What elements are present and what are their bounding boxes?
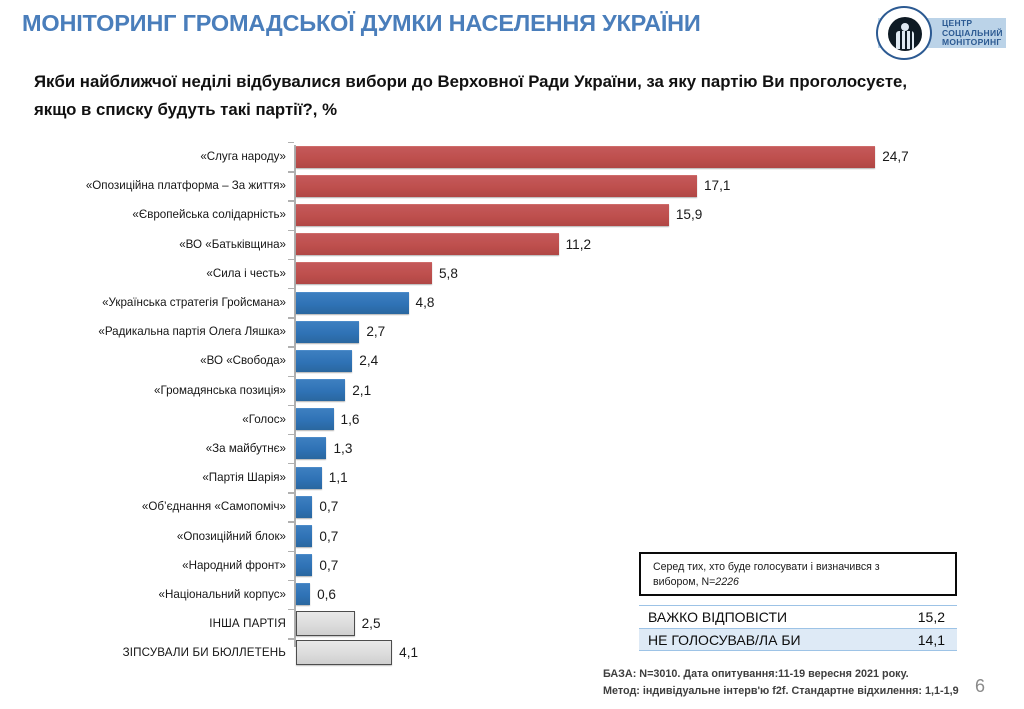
axis-tick (288, 346, 294, 347)
chart-bar-group: 4,8 (296, 288, 434, 317)
chart-bar-group: 1,3 (296, 434, 352, 463)
table-row: НЕ ГОЛОСУВАВ/ЛА БИ 14,1 (639, 628, 957, 651)
axis-tick (288, 609, 294, 610)
axis-tick (288, 259, 294, 260)
chart-category-label: ЗІПСУВАЛИ БИ БЮЛЛЕТЕНЬ (16, 646, 286, 659)
chart-value-label: 17,1 (704, 178, 730, 193)
axis-tick (288, 434, 294, 435)
logo-head-shape (901, 23, 909, 31)
axis-tick (288, 171, 294, 172)
chart-value-label: 4,1 (399, 645, 418, 660)
chart-bar-row: «Голос»1,6 (0, 405, 1024, 434)
result-value: 14,1 (918, 632, 945, 648)
chart-category-label: «Європейська солідарність» (16, 208, 286, 221)
chart-bar[interactable] (296, 262, 432, 284)
chart-bar-group: 2,4 (296, 346, 378, 375)
chart-bar[interactable] (296, 554, 312, 576)
chart-value-label: 2,1 (352, 383, 371, 398)
chart-category-label: «Голос» (16, 413, 286, 426)
sample-note-box: Серед тих, хто буде голосувати і визначи… (639, 552, 957, 596)
chart-bar-group: 17,1 (296, 171, 730, 200)
chart-category-label: «Громадянська позиція» (16, 384, 286, 397)
chart-bar-group: 24,7 (296, 142, 909, 171)
chart-bar[interactable] (296, 408, 334, 430)
footer-line-2: Метод: індивідуальне інтерв'ю f2f. Станд… (603, 683, 959, 700)
chart-value-label: 2,5 (362, 616, 381, 631)
chart-bar[interactable] (296, 437, 326, 459)
chart-bar-group: 5,8 (296, 259, 458, 288)
organization-logo: ЦЕНТР СОЦІАЛЬНИЙ МОНІТОРИНГ (876, 6, 1016, 60)
chart-bar-row: «Європейська солідарність»15,9 (0, 200, 1024, 229)
chart-value-label: 1,1 (329, 470, 348, 485)
chart-category-label: «Партія Шарія» (16, 471, 286, 484)
axis-tick (288, 230, 294, 231)
logo-text: ЦЕНТР СОЦІАЛЬНИЙ МОНІТОРИНГ (942, 19, 1003, 48)
axis-tick (288, 463, 294, 464)
chart-category-label: «Сила і честь» (16, 267, 286, 280)
page-number: 6 (975, 676, 985, 697)
chart-bar-group: 1,1 (296, 463, 348, 492)
chart-bar-row: «Радикальна партія Олега Ляшка»2,7 (0, 317, 1024, 346)
logo-circle-icon (876, 6, 932, 60)
chart-bar[interactable] (296, 640, 392, 665)
chart-category-label: «Українська стратегія Гройсмана» (16, 296, 286, 309)
sample-note-text: Серед тих, хто буде голосувати і визначи… (653, 560, 945, 589)
chart-value-label: 0,7 (319, 529, 338, 544)
chart-category-label: «ВО «Батьківщина» (16, 238, 286, 251)
chart-bar[interactable] (296, 204, 669, 226)
chart-bar[interactable] (296, 379, 345, 401)
chart-bar-group: 4,1 (296, 638, 418, 667)
chart-bar[interactable] (296, 583, 310, 605)
chart-value-label: 0,7 (319, 499, 338, 514)
axis-tick (288, 551, 294, 552)
chart-value-label: 2,7 (366, 324, 385, 339)
chart-bar[interactable] (296, 175, 697, 197)
chart-bar[interactable] (296, 350, 352, 372)
chart-category-label: ІНША ПАРТІЯ (16, 617, 286, 630)
chart-bar-group: 2,1 (296, 376, 371, 405)
chart-bar-row: «Опозиційний блок»0,7 (0, 521, 1024, 550)
sample-note-line-2-prefix: вибором, N= (653, 576, 715, 588)
logo-stripe-3 (910, 31, 912, 49)
chart-category-label: «Радикальна партія Олега Ляшка» (16, 325, 286, 338)
chart-value-label: 2,4 (359, 353, 378, 368)
axis-tick (288, 405, 294, 406)
chart-bar[interactable] (296, 321, 359, 343)
chart-bar-group: 0,7 (296, 551, 338, 580)
chart-value-label: 5,8 (439, 266, 458, 281)
chart-bar[interactable] (296, 292, 409, 314)
chart-bar-row: «Українська стратегія Гройсмана»4,8 (0, 288, 1024, 317)
chart-category-label: «Національний корпус» (16, 588, 286, 601)
axis-tick (288, 492, 294, 493)
chart-value-label: 15,9 (676, 207, 702, 222)
chart-bar-row: «Партія Шарія»1,1 (0, 463, 1024, 492)
chart-bar-group: 0,7 (296, 521, 338, 550)
chart-value-label: 0,6 (317, 587, 336, 602)
chart-category-label: «За майбутнє» (16, 442, 286, 455)
page-title: МОНІТОРИНГ ГРОМАДСЬКОЇ ДУМКИ НАСЕЛЕННЯ У… (22, 10, 701, 37)
logo-text-line-3: МОНІТОРИНГ (942, 38, 1003, 48)
chart-category-label: «Народний фронт» (16, 559, 286, 572)
slide-root: МОНІТОРИНГ ГРОМАДСЬКОЇ ДУМКИ НАСЕЛЕННЯ У… (0, 0, 1024, 709)
chart-bar[interactable] (296, 611, 355, 636)
chart-bar-row: «Громадянська позиція»2,1 (0, 376, 1024, 405)
result-label: ВАЖКО ВІДПОВІСТИ (648, 609, 787, 625)
sample-note-line-1: Серед тих, хто буде голосувати і визначи… (653, 561, 880, 573)
chart-bar-row: «ВО «Свобода»2,4 (0, 346, 1024, 375)
chart-value-label: 11,2 (566, 237, 591, 252)
chart-category-label: «Слуга народу» (16, 150, 286, 163)
chart-value-label: 1,6 (341, 412, 360, 427)
table-row: ВАЖКО ВІДПОВІСТИ 15,2 (639, 605, 957, 628)
survey-question: Якби найближчої неділі відбувалися вибор… (34, 68, 944, 124)
chart-bar-group: 0,6 (296, 580, 336, 609)
chart-bar-row: «Опозиційна платформа – За життя»17,1 (0, 171, 1024, 200)
chart-bar[interactable] (296, 146, 875, 168)
result-value: 15,2 (918, 609, 945, 625)
result-label: НЕ ГОЛОСУВАВ/ЛА БИ (648, 632, 801, 648)
chart-bar-row: «Об’єднання «Самопоміч»0,7 (0, 492, 1024, 521)
results-table: ВАЖКО ВІДПОВІСТИ 15,2 НЕ ГОЛОСУВАВ/ЛА БИ… (639, 605, 957, 651)
axis-tick (288, 200, 294, 201)
axis-tick (288, 376, 294, 377)
chart-value-label: 0,7 (319, 558, 338, 573)
chart-value-label: 24,7 (882, 149, 908, 164)
chart-category-label: «ВО «Свобода» (16, 354, 286, 367)
chart-bar-group: 15,9 (296, 200, 702, 229)
chart-bar-row: «Сила і честь»5,8 (0, 259, 1024, 288)
chart-bar[interactable] (296, 525, 312, 547)
chart-bar-row: «Слуга народу»24,7 (0, 142, 1024, 171)
footer-line-1: БАЗА: N=3010. Дата опитування:11-19 вере… (603, 666, 959, 683)
sample-note-n-value: 2226 (715, 576, 739, 588)
logo-stripe-1 (900, 31, 902, 49)
chart-bar[interactable] (296, 467, 322, 489)
chart-value-label: 4,8 (416, 295, 435, 310)
chart-bar-group: 11,2 (296, 230, 591, 259)
chart-bar-row: «За майбутнє»1,3 (0, 434, 1024, 463)
chart-category-label: «Опозиційна платформа – За життя» (16, 179, 286, 192)
axis-tick (288, 521, 294, 522)
logo-disc-icon (888, 17, 922, 51)
chart-bar-group: 2,5 (296, 609, 381, 638)
axis-tick (288, 580, 294, 581)
chart-bar[interactable] (296, 233, 559, 255)
axis-tick (288, 638, 294, 639)
logo-figure-icon (895, 23, 915, 49)
axis-tick (288, 288, 294, 289)
axis-tick (288, 142, 294, 143)
chart-category-label: «Об’єднання «Самопоміч» (16, 500, 286, 513)
chart-value-label: 1,3 (333, 441, 352, 456)
axis-tick (288, 317, 294, 318)
footer-note: БАЗА: N=3010. Дата опитування:11-19 вере… (603, 666, 959, 699)
chart-bar-group: 1,6 (296, 405, 359, 434)
chart-bar-group: 0,7 (296, 492, 338, 521)
chart-category-label: «Опозиційний блок» (16, 530, 286, 543)
chart-bar-row: «ВО «Батьківщина»11,2 (0, 230, 1024, 259)
chart-bar[interactable] (296, 496, 312, 518)
logo-stripe-2 (905, 31, 907, 49)
chart-bar-group: 2,7 (296, 317, 385, 346)
